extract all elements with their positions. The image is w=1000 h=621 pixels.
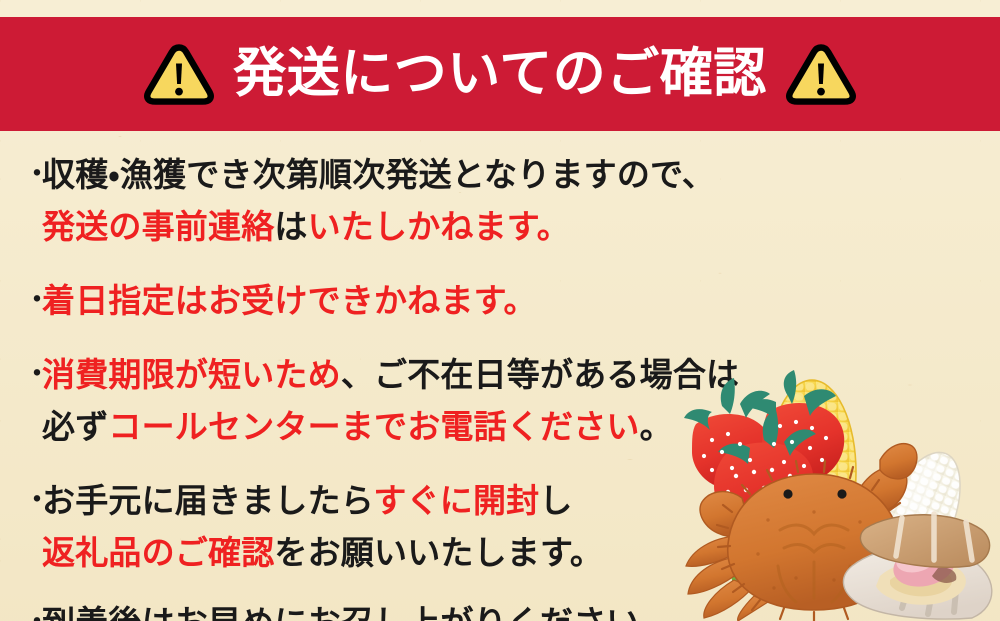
notice-item: ・消費期限が短いため、ご不在日等がある場合は必ずコールセンターまでお電話ください…: [0, 349, 1000, 453]
bullet-marker: ・: [22, 475, 42, 527]
notice-text: 収穫・漁獲でき次第順次発送となりますので、発送の事前連絡はいたしかねます。: [42, 149, 1000, 253]
notice-list: ・収穫・漁獲でき次第順次発送となりますので、発送の事前連絡はいたしかねます。・着…: [0, 131, 1000, 621]
text-segment-black: は: [274, 207, 307, 246]
text-segment-black: 収穫・漁獲でき次第順次発送となりますので、: [42, 155, 715, 194]
notice-line: 到着後はお早めにお召し上がりください。: [42, 597, 1000, 621]
warning-triangle-icon: [785, 42, 857, 106]
text-segment-black: お手元に届きましたら: [42, 481, 373, 520]
text-segment-black: し: [539, 481, 572, 520]
notice-text: お手元に届きましたらすぐに開封し返礼品のご確認をお願いいたします。: [42, 475, 1000, 579]
notice-line: 発送の事前連絡はいたしかねます。: [42, 201, 1000, 253]
text-segment-red: すぐに開封: [373, 481, 539, 520]
notice-item: ・収穫・漁獲でき次第順次発送となりますので、発送の事前連絡はいたしかねます。: [0, 149, 1000, 253]
notice-item: ・お手元に届きましたらすぐに開封し返礼品のご確認をお願いいたします。: [0, 475, 1000, 579]
notice-line: 消費期限が短いため、ご不在日等がある場合は: [42, 349, 1000, 401]
notice-item: ・着日指定はお受けできかねます。: [0, 275, 1000, 327]
text-segment-red: 返礼品のご確認: [42, 533, 274, 572]
text-segment-red: いたしかねます。: [308, 207, 570, 246]
text-segment-black: 到着後はお早めにお召し上がりください。: [42, 603, 673, 621]
warning-triangle-icon: [143, 42, 215, 106]
bullet-marker: ・: [22, 275, 42, 327]
notice-item: ・到着後はお早めにお召し上がりください。: [0, 597, 1000, 621]
notice-line: 必ずコールセンターまでお電話ください。: [42, 401, 1000, 453]
text-segment-red: 消費期限が短いため: [42, 355, 341, 394]
page-title: 発送についてのご確認: [233, 47, 766, 100]
notice-line: 返礼品のご確認をお願いいたします。: [42, 527, 1000, 579]
text-segment-red: 着日指定はお受けできかねます。: [42, 281, 537, 320]
notice-text: 消費期限が短いため、ご不在日等がある場合は必ずコールセンターまでお電話ください。: [42, 349, 1000, 453]
text-segment-red: コールセンターまでお電話ください: [108, 407, 639, 446]
bullet-marker: ・: [22, 149, 42, 201]
text-segment-black: 。: [640, 407, 673, 446]
text-segment-black: 、ご不在日等がある場合は: [341, 355, 739, 394]
text-segment-red: 発送の事前連絡: [42, 207, 274, 246]
notice-line: お手元に届きましたらすぐに開封し: [42, 475, 1000, 527]
notice-line: 着日指定はお受けできかねます。: [42, 275, 1000, 327]
bullet-marker: ・: [22, 349, 42, 401]
notice-text: 着日指定はお受けできかねます。: [42, 275, 1000, 327]
notice-banner: 発送についてのご確認 ・収穫・漁獲でき次第順次発送となりますので、発送の事前連絡…: [0, 0, 1000, 621]
notice-text: 到着後はお早めにお召し上がりください。: [42, 597, 1000, 621]
bullet-marker: ・: [22, 597, 42, 621]
notice-line: 収穫・漁獲でき次第順次発送となりますので、: [42, 149, 1000, 201]
text-segment-black: をお願いいたします。: [274, 533, 603, 572]
header-band: 発送についてのご確認: [0, 17, 1000, 131]
text-segment-black: 必ず: [42, 407, 108, 446]
